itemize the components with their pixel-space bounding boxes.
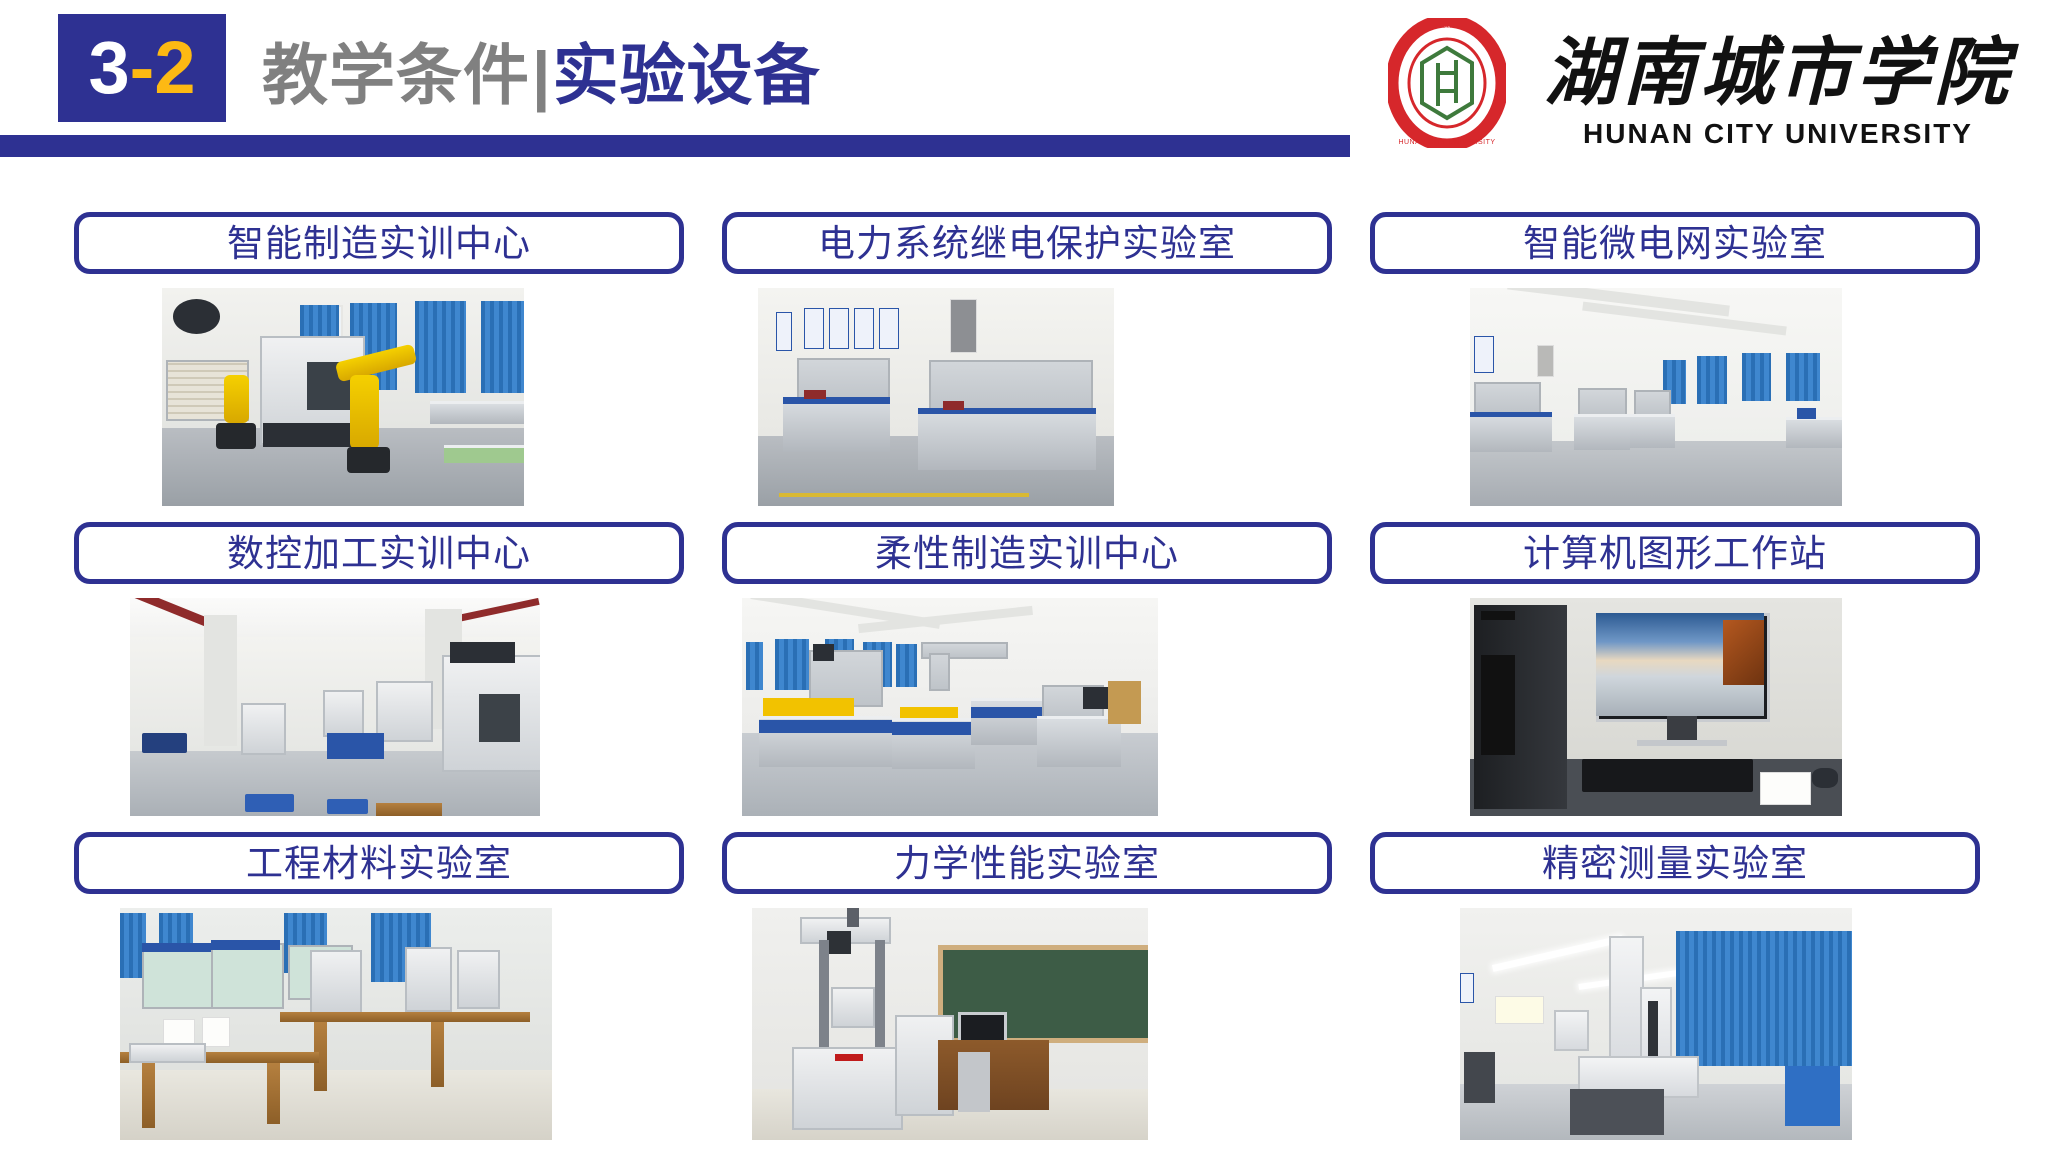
lab-card-graphics-workstation[interactable]: 计算机图形工作站 [1370,522,1984,832]
university-logo: 湖 HUNAN CITY UNIVERSITY 湖南城市学院 HUNAN CIT… [1388,18,2028,158]
svg-text:湖: 湖 [1444,26,1450,34]
lab-label-text: 计算机图形工作站 [1523,535,1827,572]
lab-card-flexible-manufacturing[interactable]: 柔性制造实训中心 [722,522,1336,832]
slide-root: 3-2 教学条件 | 实验设备 湖 HUNAN CITY UNIVERSI [0,0,2048,1152]
lab-photo-relay-protection [758,288,1114,506]
lab-label-pill[interactable]: 智能制造实训中心 [74,212,684,274]
lab-row: 数控加工实训中心 [0,522,2048,832]
section-number-badge: 3-2 [58,14,226,122]
calligraphy-strokes: 湖南城市学院 [1528,24,2028,116]
lab-row: 智能制造实训中心 [0,212,2048,522]
lab-label-text: 数控加工实训中心 [227,535,531,572]
section-number-prefix: 3 [89,26,130,109]
lab-label-pill[interactable]: 精密测量实验室 [1370,832,1980,894]
lab-label-pill[interactable]: 力学性能实验室 [722,832,1332,894]
lab-row: 工程材料实验室 [0,832,2048,1142]
lab-label-text: 力学性能实验室 [894,845,1160,882]
lab-card-engineering-materials[interactable]: 工程材料实验室 [74,832,688,1142]
lab-label-pill[interactable]: 数控加工实训中心 [74,522,684,584]
lab-photo-precision-measurement [1460,908,1852,1140]
lab-label-pill[interactable]: 电力系统继电保护实验室 [722,212,1332,274]
svg-text:HUNAN CITY UNIVERSITY: HUNAN CITY UNIVERSITY [1398,139,1495,146]
svg-text:湖南城市学院: 湖南城市学院 [1544,30,2019,116]
university-name-cn-calligraphy: 湖南城市学院 [1528,24,2028,116]
lab-photo-engineering-materials [120,908,552,1140]
page-title: 教学条件 | 实验设备 [262,22,820,118]
lab-label-text: 智能制造实训中心 [227,225,531,262]
lab-card-cnc-machining[interactable]: 数控加工实训中心 [74,522,688,832]
lab-label-pill[interactable]: 计算机图形工作站 [1370,522,1980,584]
lab-label-text: 精密测量实验室 [1542,845,1808,882]
lab-photo-mechanical-properties [752,908,1148,1140]
lab-label-pill[interactable]: 工程材料实验室 [74,832,684,894]
lab-photo-cnc-machining [130,598,540,816]
lab-gallery-grid: 智能制造实训中心 [0,168,2048,1152]
lab-label-text: 柔性制造实训中心 [875,535,1179,572]
lab-card-smart-microgrid[interactable]: 智能微电网实验室 [1370,212,1984,522]
lab-photo-flexible-manufacturing [742,598,1158,816]
header-divider-bar [0,135,1350,157]
page-title-separator: | [530,37,552,113]
lab-label-text: 工程材料实验室 [246,845,512,882]
section-number-suffix: 2 [154,26,195,109]
page-title-secondary: 实验设备 [552,22,820,118]
lab-label-text: 智能微电网实验室 [1523,225,1827,262]
lab-label-text: 电力系统继电保护实验室 [818,225,1236,262]
section-number-text: 3-2 [89,31,196,105]
section-number-dash: - [130,26,155,109]
slide-header: 3-2 教学条件 | 实验设备 湖 HUNAN CITY UNIVERSI [0,0,2048,160]
lab-card-precision-measurement[interactable]: 精密测量实验室 [1370,832,1984,1142]
lab-card-intelligent-manufacturing[interactable]: 智能制造实训中心 [74,212,688,522]
lab-card-mechanical-properties[interactable]: 力学性能实验室 [722,832,1336,1142]
lab-card-relay-protection[interactable]: 电力系统继电保护实验室 [722,212,1336,522]
lab-photo-intelligent-manufacturing [162,288,524,506]
university-seal-icon: 湖 HUNAN CITY UNIVERSITY [1388,18,1506,148]
lab-label-pill[interactable]: 柔性制造实训中心 [722,522,1332,584]
page-title-primary: 教学条件 [262,22,530,118]
lab-photo-smart-microgrid [1470,288,1842,506]
university-name-en: HUNAN CITY UNIVERSITY [1528,118,2028,150]
lab-label-pill[interactable]: 智能微电网实验室 [1370,212,1980,274]
lab-photo-graphics-workstation [1470,598,1842,816]
